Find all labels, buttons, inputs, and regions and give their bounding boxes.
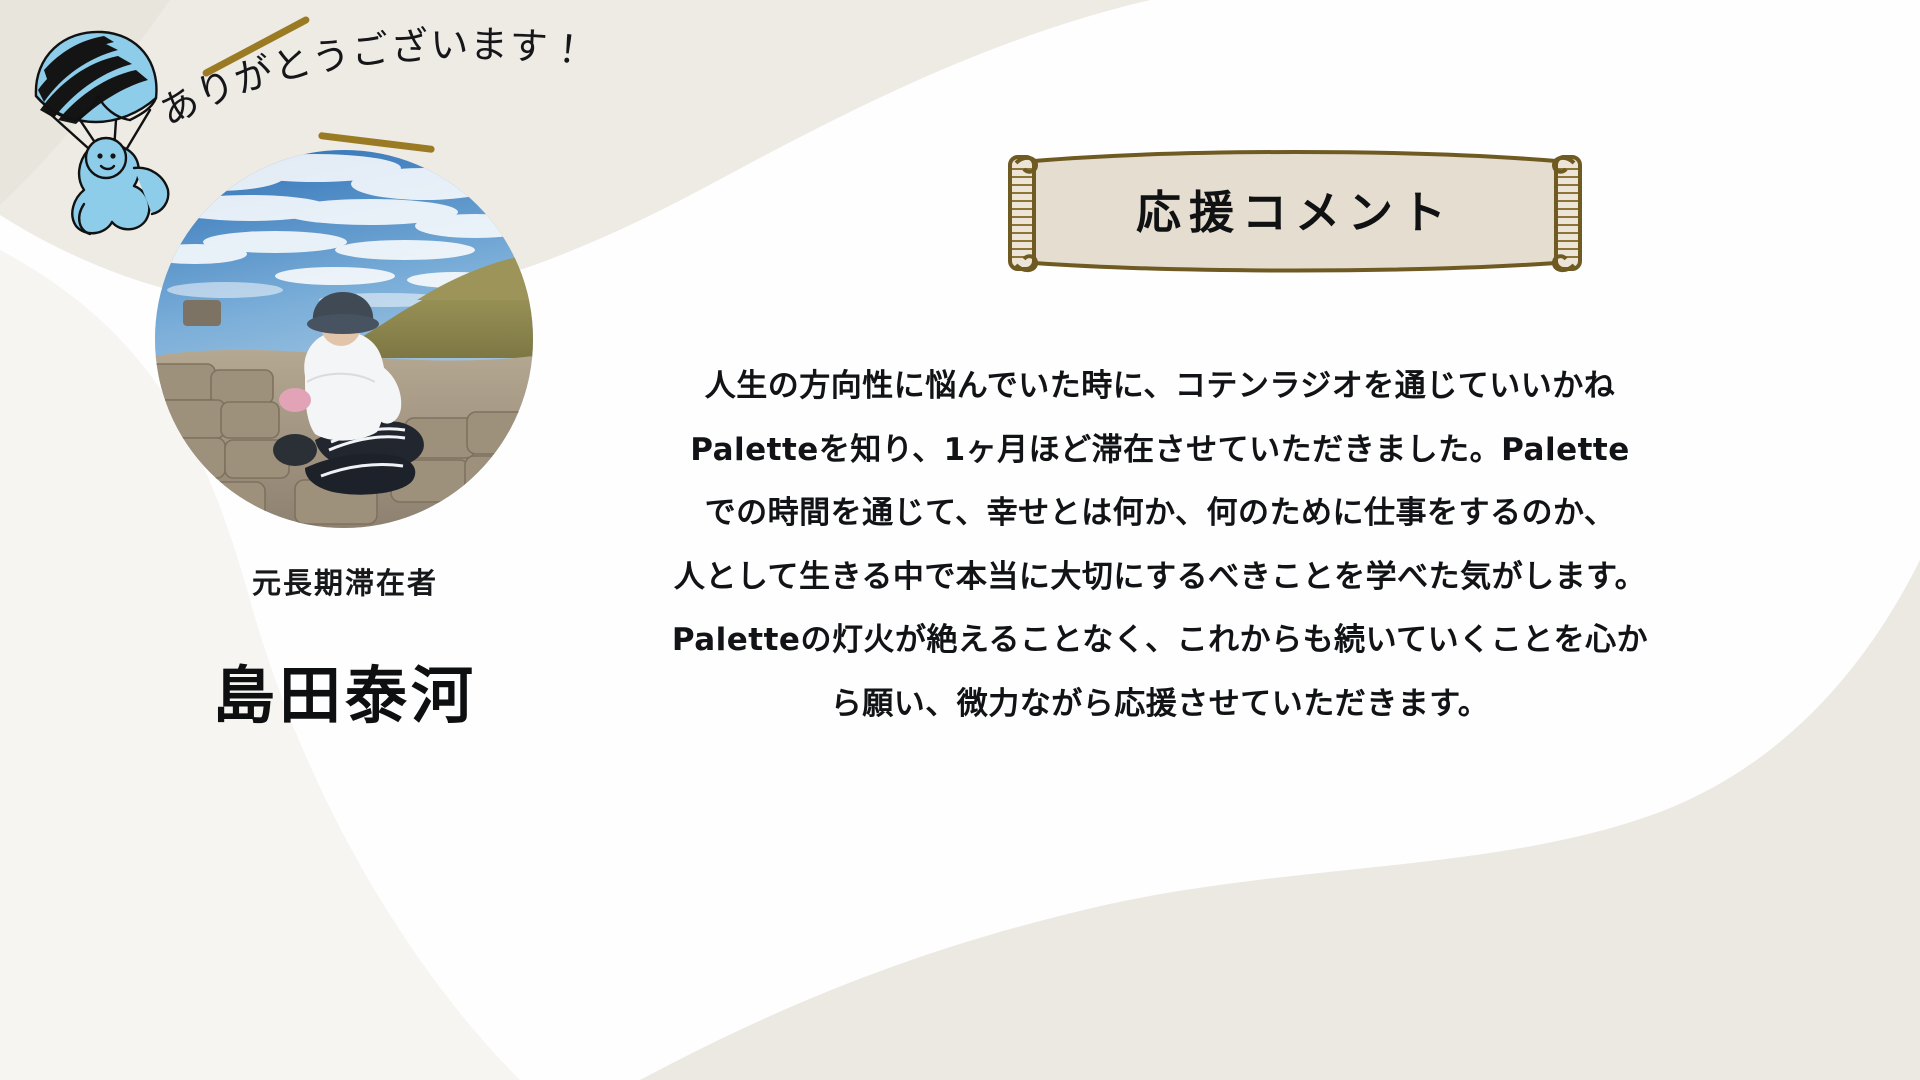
ribbon-title: 応援コメント — [1000, 145, 1590, 275]
comment-line: での時間を通じて、幸せとは何か、何のために仕事をするのか、 — [625, 482, 1695, 546]
comment-column: 応援コメント 人生の方向性に悩んでいた時に、コテンラジオを通じていいかね Pal… — [780, 0, 1920, 1080]
comment-line: Paletteの灯火が絶えることなく、これからも続いていくことを心か — [625, 609, 1695, 673]
handwritten-thankyou-text: ありがとうございます！ — [153, 24, 590, 134]
comment-line: ら願い、微力ながら応援させていただきます。 — [625, 673, 1695, 737]
comment-paragraph: 人生の方向性に悩んでいた時に、コテンラジオを通じていいかね Paletteを知り… — [625, 355, 1695, 736]
profile-name: 島田泰河 — [0, 645, 690, 735]
profile-role: 元長期滞在者 — [0, 560, 690, 602]
comment-line: Paletteを知り、1ヶ月ほど滞在させていただきました。Palette — [625, 419, 1695, 483]
comment-line: 人として生きる中で本当に大切にするべきことを学べた気がします。 — [625, 546, 1695, 610]
comment-line: 人生の方向性に悩んでいた時に、コテンラジオを通じていいかね — [625, 355, 1695, 419]
handwritten-thankyou: ありがとうございます！ — [150, 24, 670, 144]
avatar — [155, 150, 533, 528]
ribbon-banner: 応援コメント — [1000, 145, 1590, 275]
slide-stage: ありがとうございます！ — [0, 0, 1920, 1080]
